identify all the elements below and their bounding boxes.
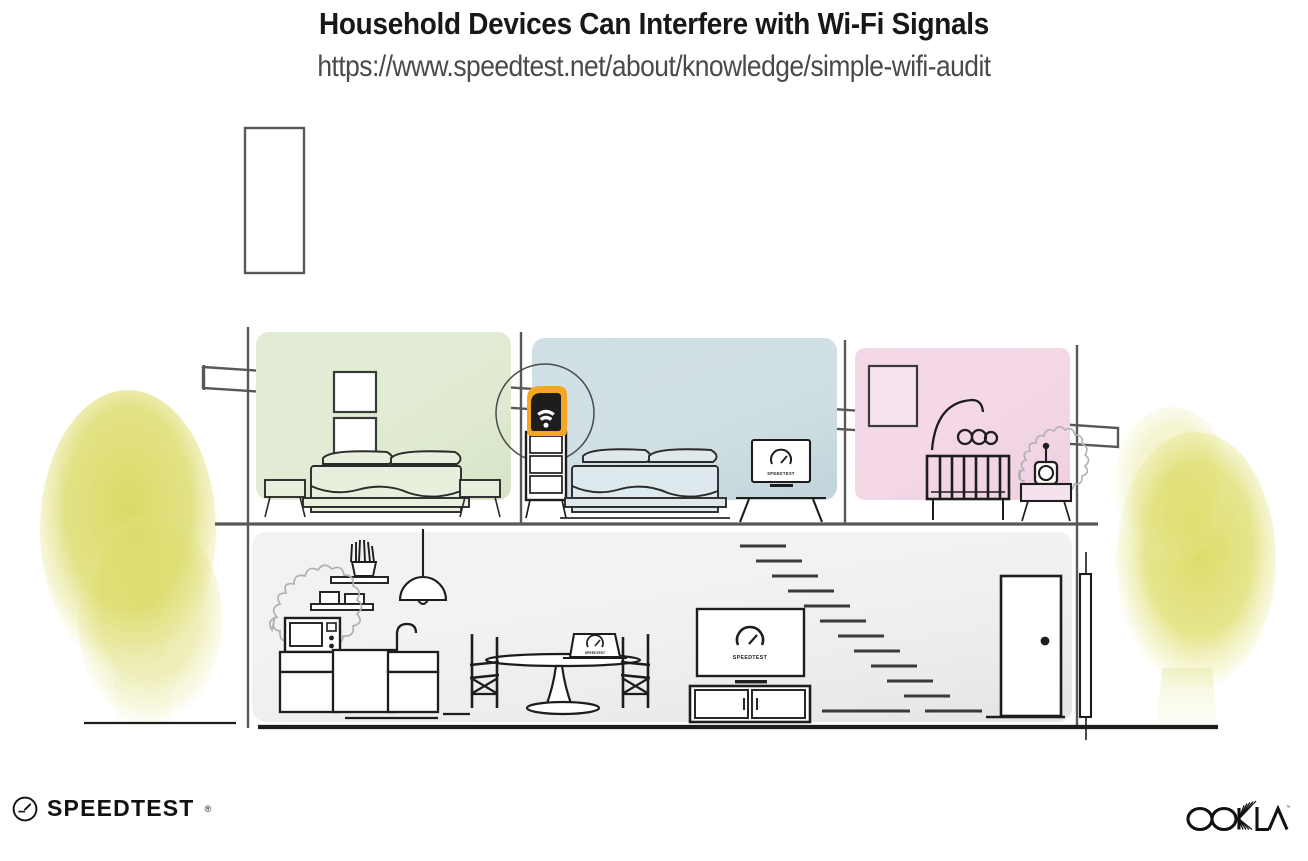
speedometer-icon	[12, 796, 38, 822]
speedtest-trademark: ®	[205, 804, 212, 814]
wifi-router[interactable]	[527, 386, 567, 436]
desk-blue	[736, 498, 826, 522]
speedtest-logo[interactable]: SPEEDTEST ®	[12, 795, 211, 822]
footer: SPEEDTEST ®	[0, 775, 1308, 861]
laptop-screen-logo-text: SPEEDTEST	[585, 651, 606, 655]
desktop-monitor[interactable]: SPEEDTEST	[752, 440, 810, 487]
illustration-page: Household Devices Can Interfere with Wi-…	[0, 0, 1308, 861]
header: Household Devices Can Interfere with Wi-…	[0, 0, 1308, 105]
microwave[interactable]	[285, 618, 340, 652]
tv-screen-logo-text: SPEEDTEST	[733, 655, 768, 661]
shelving-unit	[526, 432, 566, 518]
ookla-wordmark-icon: ™	[1186, 799, 1290, 833]
kitchen-counter	[280, 650, 438, 712]
media-console	[690, 686, 810, 722]
svg-text:™: ™	[1286, 805, 1290, 811]
bed-green	[303, 451, 469, 512]
television[interactable]: SPEEDTEST	[697, 609, 804, 683]
side-table-nursery	[1021, 484, 1071, 521]
screen-logo-text: SPEEDTEST	[767, 471, 795, 476]
nursery-wall-frame	[869, 366, 917, 426]
sidelight-window	[1080, 552, 1091, 740]
source-url: https://www.speedtest.net/about/knowledg…	[78, 50, 1229, 84]
foliage-left	[40, 390, 222, 725]
page-title: Household Devices Can Interfere with Wi-…	[65, 6, 1242, 42]
speedtest-wordmark: SPEEDTEST	[47, 795, 195, 822]
foliage-right	[1114, 407, 1276, 730]
open-shelf-upper	[331, 577, 388, 583]
bed-blue	[560, 449, 730, 518]
door-knob-icon	[1041, 637, 1050, 646]
chimney	[245, 128, 304, 273]
open-shelf-lower	[311, 604, 373, 610]
house-cutaway-illustration: SPEEDTEST	[0, 100, 1308, 760]
ookla-logo[interactable]: ™	[1186, 799, 1290, 838]
